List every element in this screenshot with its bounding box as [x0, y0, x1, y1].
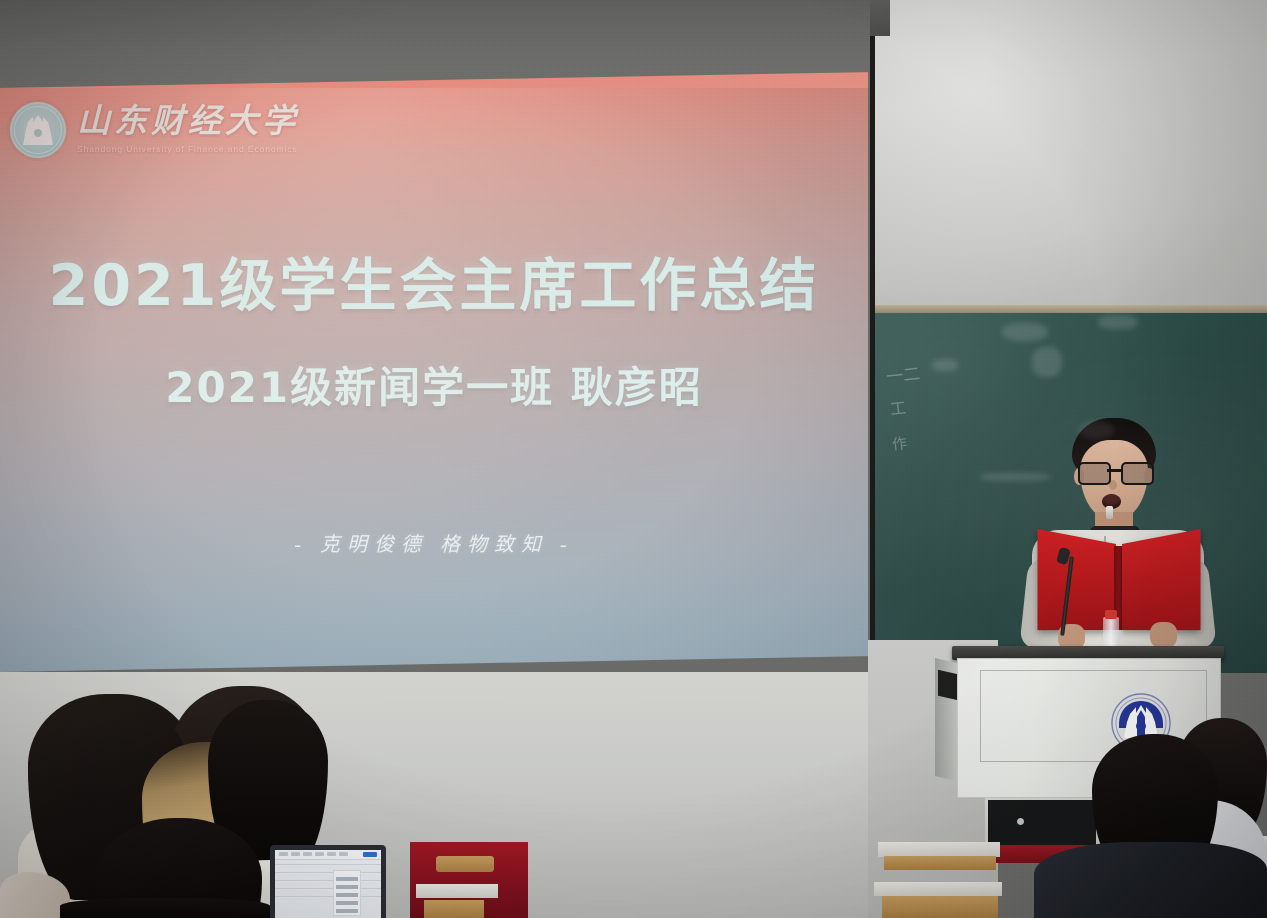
desk-surface [878, 842, 1000, 857]
classroom-photo: 一二 工 作 [0, 0, 1267, 918]
audience-shoulder-dark-jacket [1034, 842, 1267, 918]
laptop-screen[interactable] [275, 850, 381, 918]
spreadsheet-selection [363, 852, 377, 857]
chalk-smear [1032, 347, 1062, 377]
desk-seat [882, 896, 998, 918]
podium-side-slot [938, 670, 958, 701]
presentation-slide: 山东财经大学 Shandong University of Finance an… [0, 72, 868, 672]
chalk-smear [1098, 315, 1138, 329]
slide-subtitle: 2021级新闻学一班 耿彦昭 [0, 354, 868, 415]
slide-title: 2021级学生会主席工作总结 [0, 240, 868, 322]
chalk-mark: 工 [889, 394, 907, 420]
projection-screen: 山东财经大学 Shandong University of Finance an… [0, 0, 870, 674]
desk-seat [424, 900, 484, 918]
chalk-smear [932, 359, 958, 371]
slide-motto: - 克明俊德 格物致知 - [0, 528, 868, 557]
desk-seat-back [436, 856, 494, 872]
spreadsheet-toolbar [275, 850, 381, 860]
desk-surface [416, 884, 498, 898]
presenter-zip-pull [1106, 506, 1113, 519]
chalk-mark: 作 [891, 432, 908, 454]
university-name-cn: 山东财经大学 [77, 106, 299, 139]
podium-base-knob [1017, 818, 1024, 825]
university-logo-lockup: 山东财经大学 Shandong University of Finance an… [10, 102, 299, 158]
laptop-lid [270, 845, 386, 918]
desk-seat-back [884, 856, 996, 870]
audience-shoulder [60, 898, 270, 918]
university-name-en: Shandong University of Finance and Econo… [77, 145, 299, 154]
chalk-mark: 一二 [885, 359, 921, 387]
classroom-wall-upper [868, 0, 1267, 312]
desk-surface [874, 882, 1002, 896]
university-emblem-icon [10, 102, 66, 158]
open-laptop[interactable] [270, 845, 386, 918]
chalk-smear [1002, 323, 1048, 341]
presenter-hand-right [1150, 622, 1177, 648]
glasses-icon [1078, 462, 1150, 481]
spreadsheet-column [333, 870, 361, 916]
